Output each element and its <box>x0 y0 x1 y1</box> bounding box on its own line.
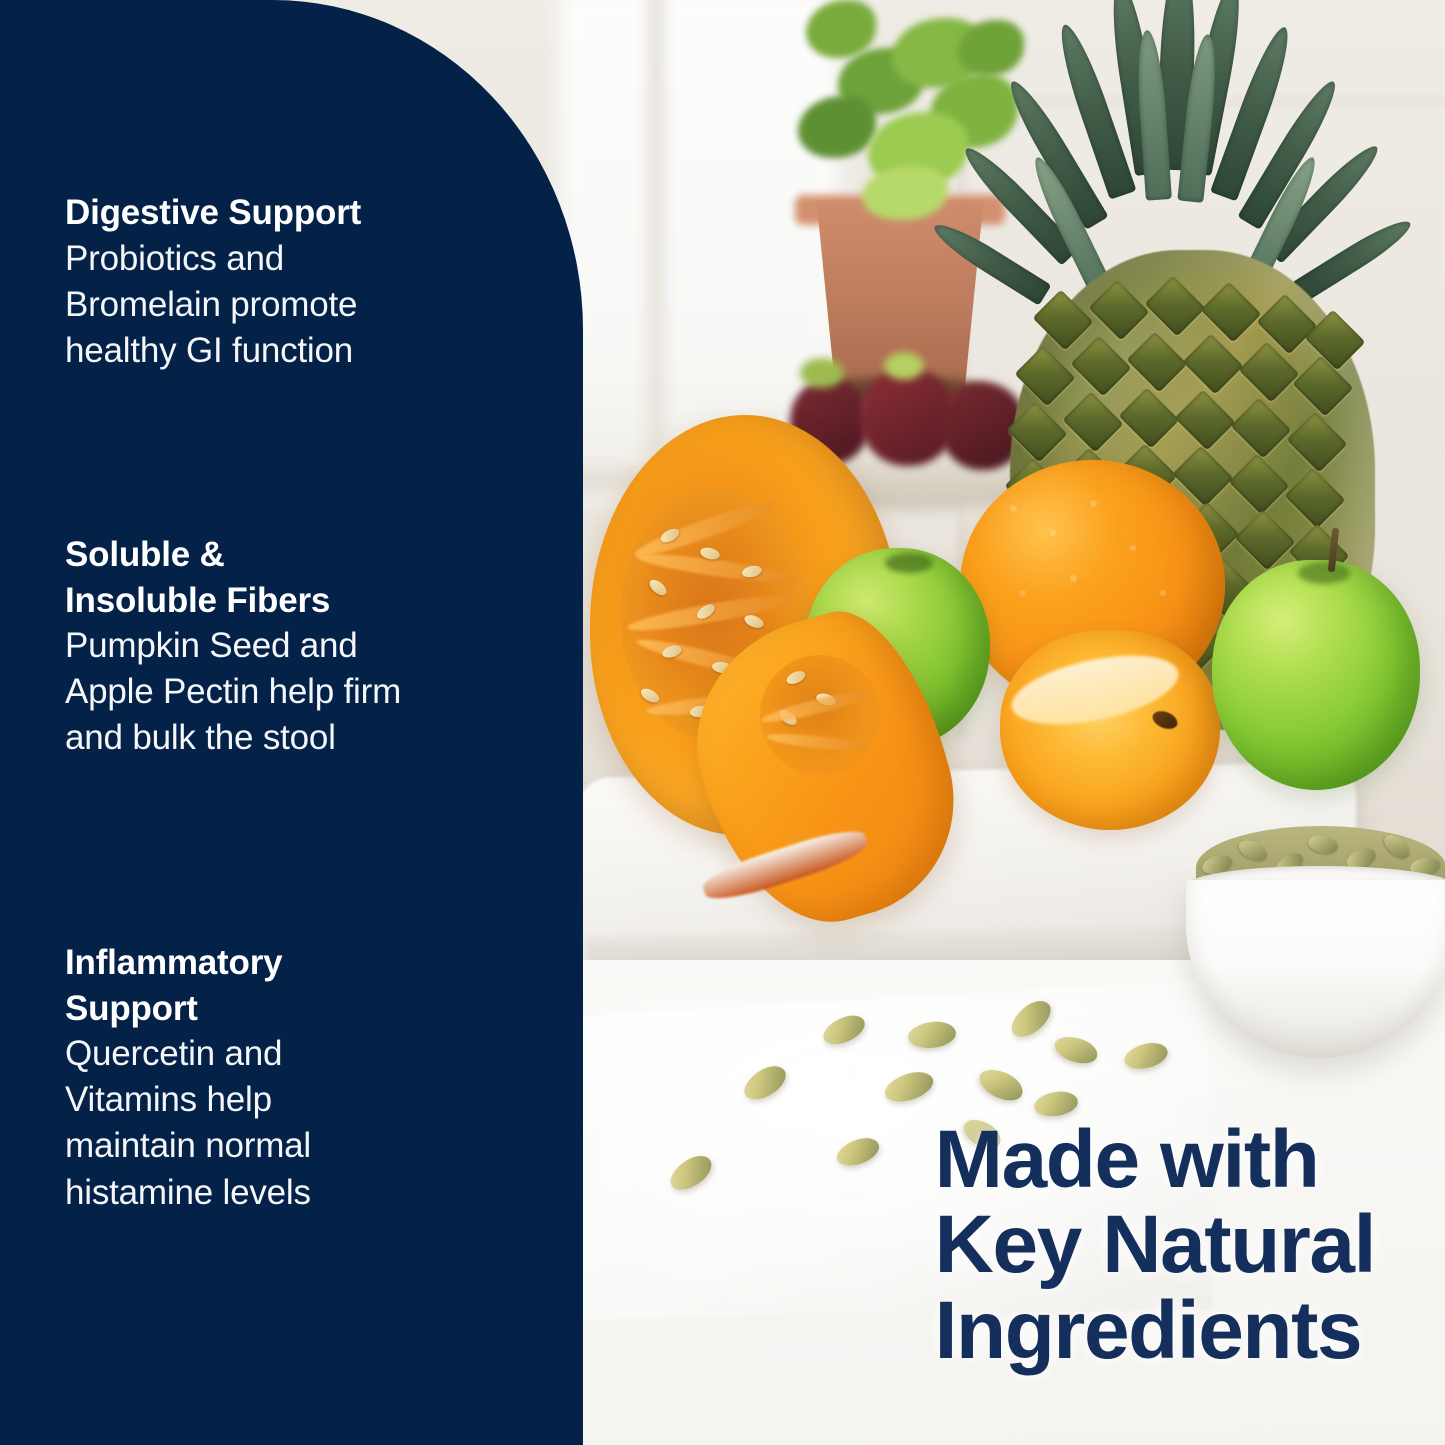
benefits-panel: Digestive Support Probiotics and Bromela… <box>0 0 583 1445</box>
benefits-list: Digestive Support Probiotics and Bromela… <box>65 0 555 1445</box>
poster-canvas: Digestive Support Probiotics and Bromela… <box>0 0 1445 1445</box>
benefit-title: Inflammatory Support <box>65 940 555 1031</box>
benefit-title: Soluble & Insoluble Fibers <box>65 532 555 623</box>
made-with-key-natural-ingredients-headline: Made with Key Natural Ingredients <box>935 1117 1375 1373</box>
benefit-description: Probiotics and Bromelain promote healthy… <box>65 236 555 375</box>
benefit-description: Pumpkin Seed and Apple Pectin help firm … <box>65 623 555 762</box>
benefit-title: Digestive Support <box>65 190 555 236</box>
benefit-soluble-insoluble-fibers: Soluble & Insoluble Fibers Pumpkin Seed … <box>65 532 555 762</box>
benefit-inflammatory-support: Inflammatory Support Quercetin and Vitam… <box>65 940 555 1216</box>
window-frame-mullion <box>648 0 664 460</box>
benefit-description: Quercetin and Vitamins help maintain nor… <box>65 1031 555 1216</box>
benefit-digestive-support: Digestive Support Probiotics and Bromela… <box>65 190 555 374</box>
